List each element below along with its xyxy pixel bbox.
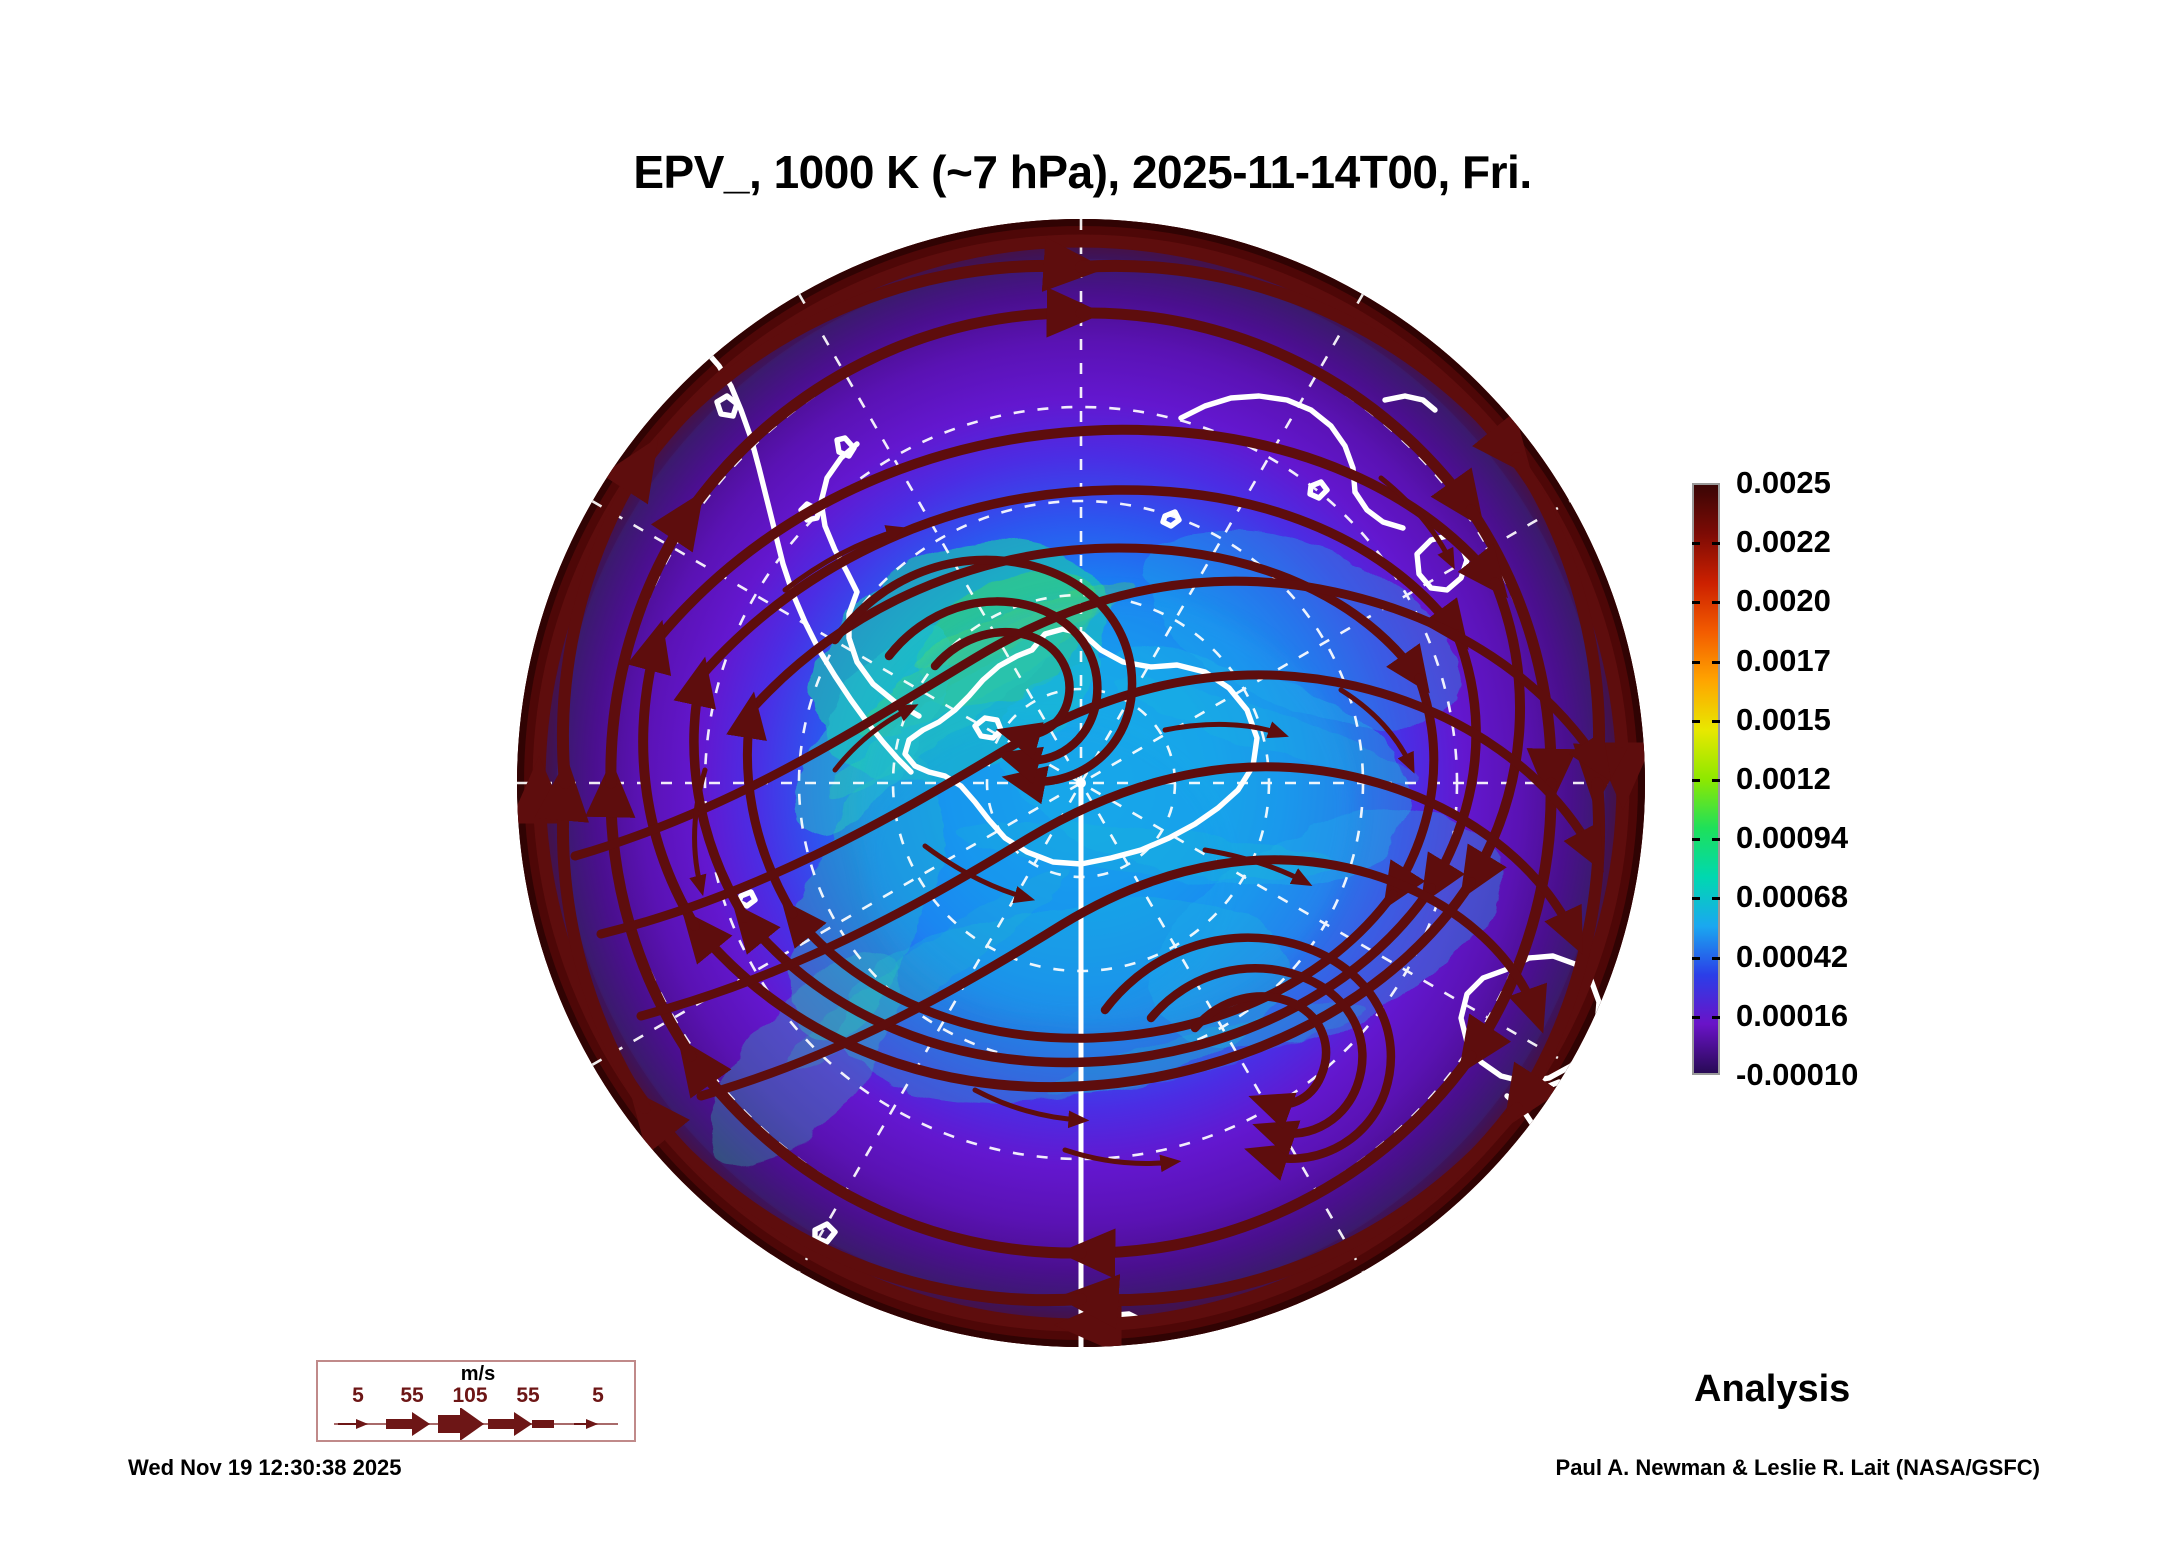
colorbar-tick: [1712, 720, 1720, 723]
colorbar-label: 0.00042: [1736, 941, 1848, 972]
colorbar-tick: [1692, 720, 1700, 723]
wind-legend-tick: 5: [568, 1384, 628, 1408]
author-credit: Paul A. Newman & Leslie R. Lait (NASA/GS…: [1556, 1455, 2040, 1481]
south-pole-marker: [1076, 778, 1086, 788]
map-svg[interactable]: [505, 210, 1657, 1356]
wind-legend-tick: 55: [382, 1384, 442, 1408]
wind-legend-units: m/s: [318, 1363, 638, 1386]
colorbar-tick: [1712, 779, 1720, 782]
colorbar: 0.00250.00220.00200.00170.00150.00120.00…: [1690, 475, 2110, 1095]
colorbar-tick: [1692, 661, 1700, 664]
generation-timestamp: Wed Nov 19 12:30:38 2025: [128, 1455, 402, 1481]
colorbar-tick: [1712, 897, 1720, 900]
colorbar-tick: [1712, 838, 1720, 841]
colorbar-label: 0.0015: [1736, 704, 1831, 735]
wind-legend-tick: 105: [440, 1384, 500, 1408]
colorbar-label: 0.0025: [1736, 467, 1831, 498]
colorbar-label: 0.0022: [1736, 526, 1831, 557]
wind-speed-legend: m/s 555105555: [316, 1360, 636, 1442]
wind-legend-arrow-icon: [318, 1408, 634, 1440]
colorbar-label: 0.00068: [1736, 881, 1848, 912]
epv-core: [855, 595, 1355, 1025]
wind-legend-tick: 5: [328, 1384, 388, 1408]
colorbar-tick: [1692, 1016, 1700, 1019]
colorbar-labels: 0.00250.00220.00200.00170.00150.00120.00…: [1736, 475, 2096, 1095]
colorbar-tick: [1692, 601, 1700, 604]
page-title: EPV_, 1000 K (~7 hPa), 2025-11-14T00, Fr…: [0, 145, 2165, 199]
colorbar-tick: [1712, 1016, 1720, 1019]
colorbar-tick: [1712, 661, 1720, 664]
colorbar-tick: [1692, 897, 1700, 900]
wind-legend-tick: 55: [498, 1384, 558, 1408]
analysis-label: Analysis: [1694, 1368, 1850, 1411]
colorbar-tick: [1692, 779, 1700, 782]
colorbar-tick: [1692, 838, 1700, 841]
figure-canvas: EPV_, 1000 K (~7 hPa), 2025-11-14T00, Fr…: [0, 0, 2165, 1561]
colorbar-tick: [1692, 542, 1700, 545]
polar-map[interactable]: [505, 210, 1657, 1356]
colorbar-tick: [1712, 542, 1720, 545]
colorbar-label: -0.00010: [1736, 1059, 1858, 1090]
colorbar-label: 0.00016: [1736, 1000, 1848, 1031]
colorbar-label: 0.0020: [1736, 585, 1831, 616]
colorbar-tick: [1712, 957, 1720, 960]
colorbar-tick: [1712, 601, 1720, 604]
colorbar-label: 0.0012: [1736, 763, 1831, 794]
colorbar-tick: [1692, 957, 1700, 960]
colorbar-label: 0.0017: [1736, 645, 1831, 676]
colorbar-label: 0.00094: [1736, 822, 1848, 853]
